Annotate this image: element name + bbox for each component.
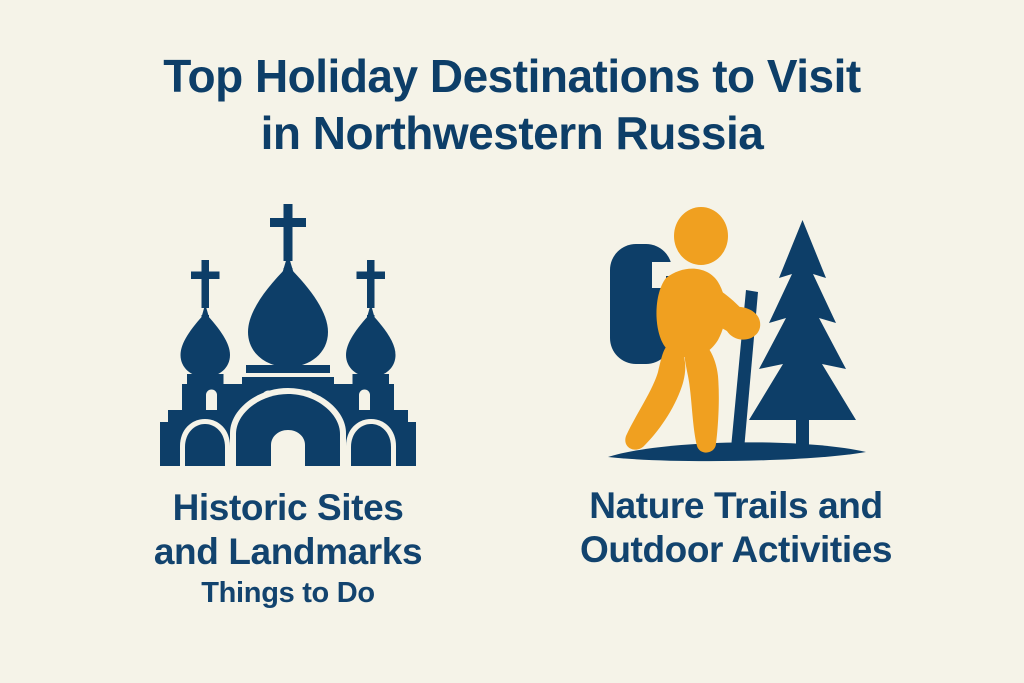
- caption-line-1: Historic Sites: [154, 486, 422, 530]
- title-line-1: Top Holiday Destinations to Visit: [0, 48, 1024, 105]
- destination-cards: Historic Sites and Landmarks Things to D…: [0, 196, 1024, 612]
- card-historic-sites[interactable]: Historic Sites and Landmarks Things to D…: [64, 196, 512, 612]
- caption-line-1: Nature Trails and: [580, 484, 892, 528]
- caption-line-2: Outdoor Activities: [580, 528, 892, 572]
- card-caption-historic-sites: Historic Sites and Landmarks Things to D…: [154, 486, 422, 612]
- hiker-with-pine-tree-icon: [586, 196, 886, 466]
- page-title: Top Holiday Destinations to Visit in Nor…: [0, 48, 1024, 162]
- title-line-2: in Northwestern Russia: [0, 105, 1024, 162]
- card-caption-nature-trails: Nature Trails and Outdoor Activities: [580, 484, 892, 572]
- pine-tree-shape: [749, 220, 856, 446]
- caption-subtitle: Things to Do: [154, 574, 422, 612]
- orthodox-church-icon: [138, 196, 438, 468]
- card-nature-trails[interactable]: Nature Trails and Outdoor Activities: [512, 196, 960, 572]
- poster-canvas: Top Holiday Destinations to Visit in Nor…: [0, 0, 1024, 683]
- caption-line-2: and Landmarks: [154, 530, 422, 574]
